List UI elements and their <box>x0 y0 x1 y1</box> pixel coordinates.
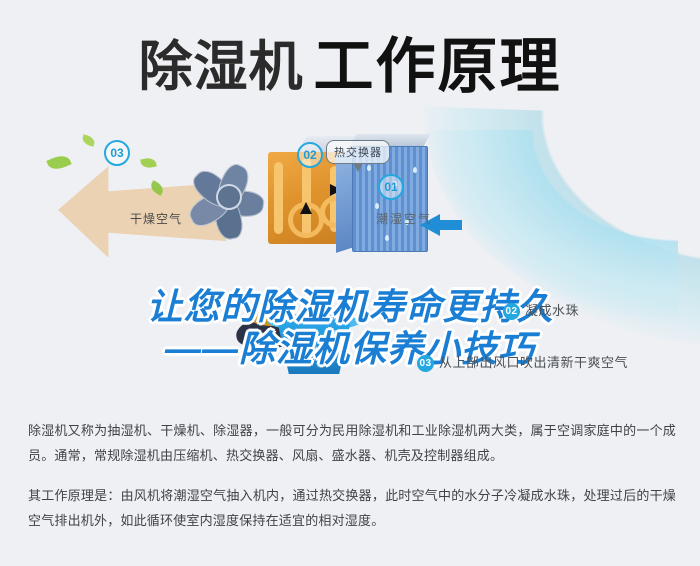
dry-air-label: 干燥空气 <box>130 210 182 227</box>
caption-step-03-text: 从上部出风口吹出清新干爽空气 <box>439 355 628 370</box>
headline: 让您的除湿机寿命更持久 ——除湿机保养小技巧 <box>0 244 700 411</box>
humid-air-label: 潮湿空气 <box>376 210 432 227</box>
poster-root: 除湿机 工作原理 干燥空气 <box>0 0 700 566</box>
headline-line-1: 让您的除湿机寿命更持久 <box>146 286 553 327</box>
step-badge-03-diagram: 03 <box>104 140 130 166</box>
step-badge-01-diagram: 01 <box>378 174 404 200</box>
caption-step-02-text: 凝成水珠 <box>525 303 579 318</box>
body-paragraph-1: 除湿机又称为抽湿机、干燥机、除湿器，一般可分为民用除湿机和工业除湿机两大类，属于… <box>28 418 676 469</box>
leaf-icon <box>46 152 71 173</box>
fan-hub <box>216 184 242 210</box>
leaf-icon <box>81 134 96 147</box>
step-badge-02-diagram: 02 <box>297 142 323 168</box>
heat-exchanger-callout: 热交换器 <box>326 140 390 164</box>
coil-pipe <box>274 162 283 234</box>
step-badge-02: 02 <box>503 303 520 320</box>
page-title: 除湿机 工作原理 <box>0 28 700 106</box>
leaf-icon <box>140 157 157 170</box>
caption-step-03: 03从上部出风口吹出清新干爽空气 <box>417 352 628 372</box>
step-badge-03: 03 <box>417 355 434 372</box>
inflow-arrow-bar <box>438 220 462 230</box>
fan-icon <box>186 154 278 246</box>
caption-step-02: 02凝成水珠 <box>503 300 579 320</box>
page-title-topic: 工作原理 <box>314 37 562 97</box>
flow-arrow-up-icon <box>300 202 312 214</box>
page-title-subject: 除湿机 <box>139 40 304 94</box>
body-paragraph-2: 其工作原理是：由风机将潮湿空气抽入机内，通过热交换器，此时空气中的水分子冷凝成水… <box>28 483 676 534</box>
